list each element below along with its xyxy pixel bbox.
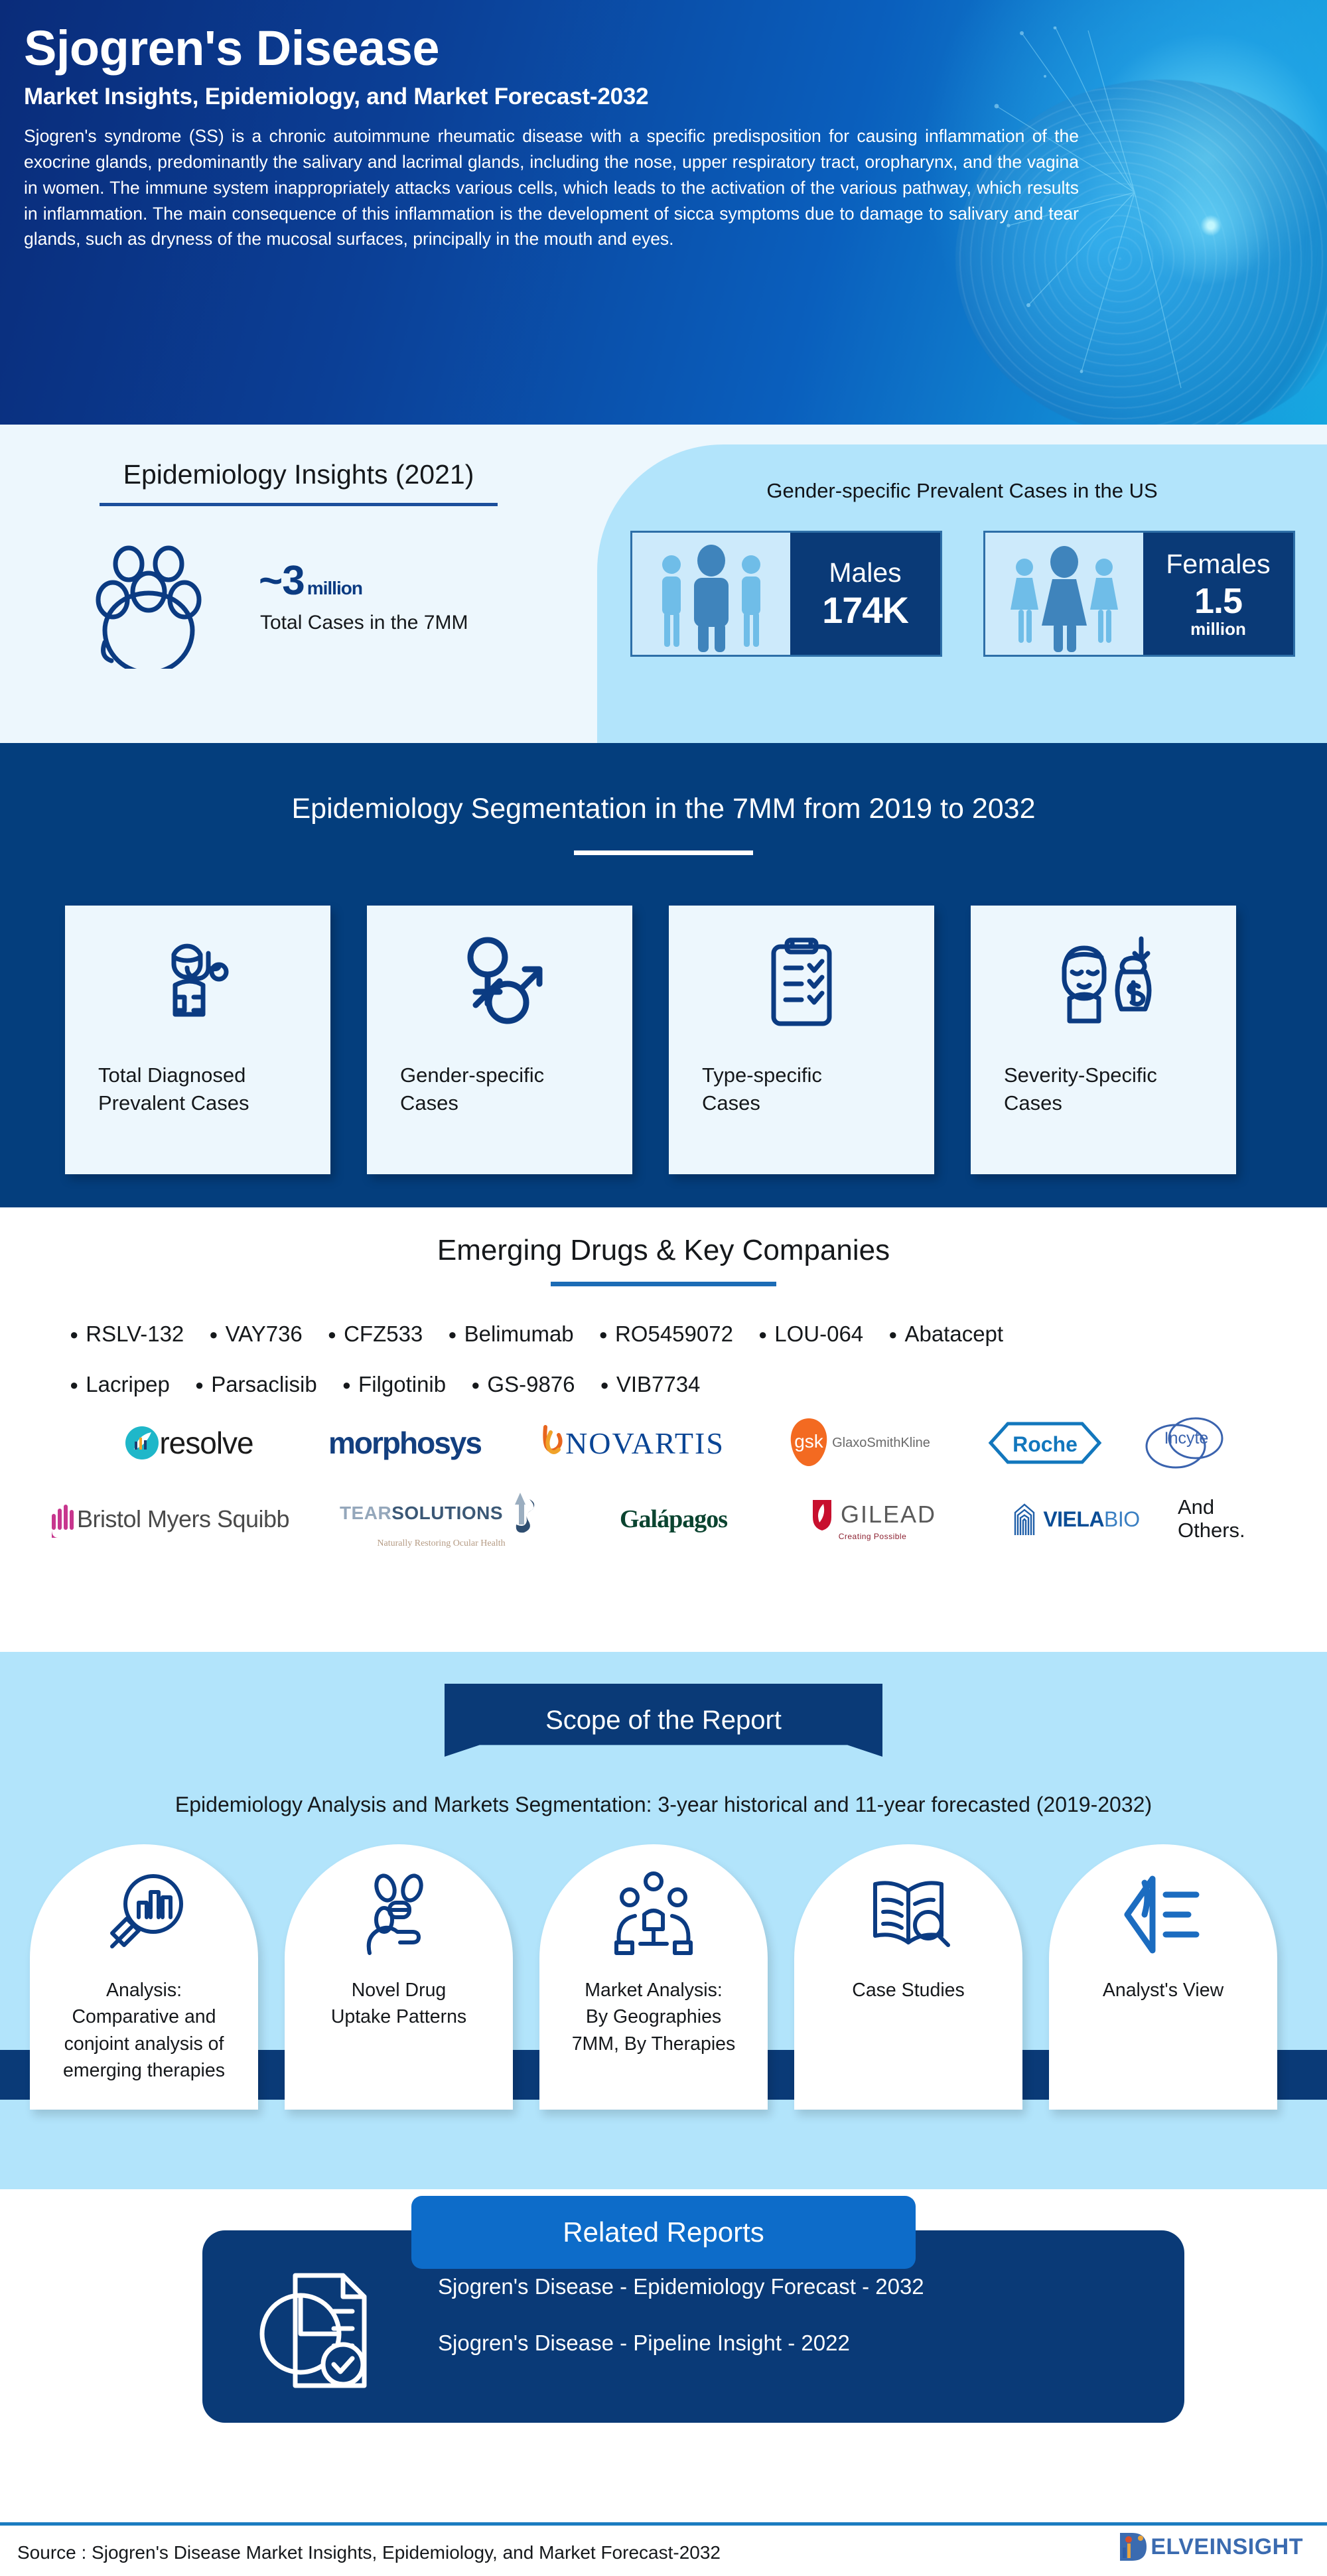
scope-card-label: Analyst's View — [1060, 1977, 1266, 2003]
female-value: 1.5 — [1194, 583, 1242, 619]
scope-card-label: Analysis: Comparative and conjoint analy… — [41, 1977, 247, 2084]
logo-bristol-myers-squibb: Bristol Myers Squibb — [30, 1499, 309, 1539]
related-report-item[interactable]: Sjogren's Disease - Epidemiology Forecas… — [438, 2275, 924, 2297]
segmentation-card-type-specific: Type-specific Cases — [669, 906, 934, 1174]
people-group-icon — [85, 543, 238, 669]
male-figures-icon — [632, 533, 790, 655]
logo-morphosys-text: morphosys — [328, 1425, 481, 1461]
and-others-label: And Others. — [1178, 1496, 1297, 1542]
megaphone-icon — [1117, 1844, 1210, 1965]
total-cases-label: Total Cases in the 7MM — [260, 612, 468, 634]
hero-description: Sjogren's syndrome (SS) is a chronic aut… — [24, 123, 1079, 251]
page-subtitle: Market Insights, Epidemiology, and Marke… — [24, 84, 1088, 110]
related-reports-list: Sjogren's Disease - Epidemiology Forecas… — [438, 2275, 924, 2354]
gender-card-females: Females 1.5 million — [983, 531, 1295, 657]
drug-item: Lacripep — [70, 1372, 170, 1396]
gender-cards: Males 174K — [630, 531, 1295, 657]
magnifier-barchart-icon — [98, 1844, 190, 1965]
doctor-stethoscope-icon — [145, 906, 251, 1061]
drug-item: CFZ533 — [328, 1322, 423, 1346]
patient-cost-icon — [1047, 906, 1160, 1061]
segmentation-card-label: Type-specific Cases — [702, 1061, 901, 1117]
drug-item: RSLV-132 — [70, 1322, 184, 1346]
gender-symbols-icon — [447, 906, 553, 1061]
gilead-mark-icon — [809, 1497, 835, 1532]
scope-card-label: Novel Drug Uptake Patterns — [296, 1977, 502, 2031]
logo-tear-tagline: Naturally Restoring Ocular Health — [377, 1538, 505, 1549]
logo-galapagos: Galápagos — [574, 1505, 773, 1534]
logo-bio-text: BIO — [1104, 1507, 1140, 1532]
resolve-mark-icon — [125, 1426, 159, 1460]
logo-roche: Roche — [969, 1418, 1121, 1467]
svg-text:Roche: Roche — [1013, 1432, 1078, 1456]
male-value-block: Males 174K — [790, 533, 940, 655]
clipboard-checklist-icon — [748, 906, 855, 1061]
scope-card-case-studies: Case Studies — [794, 1844, 1022, 2110]
emerging-drugs-section: Emerging Drugs & Key Companies RSLV-132V… — [0, 1207, 1327, 1652]
male-label: Males — [829, 559, 901, 586]
drug-list-row-1: RSLV-132VAY736CFZ533BelimumabRO5459072LO… — [70, 1322, 1028, 1347]
related-reports-badge[interactable]: Related Reports — [411, 2196, 916, 2269]
related-reports-section: Related Reports Sjogren's Disease - Epid… — [0, 2189, 1327, 2508]
logo-morphosys: morphosys — [299, 1425, 511, 1461]
segmentation-title: Epidemiology Segmentation in the 7MM fro… — [0, 793, 1327, 825]
scope-card-label: Market Analysis: By Geographies 7MM, By … — [551, 1977, 756, 2057]
tearsolutions-mark-icon — [507, 1490, 543, 1536]
logo-resolve-text: resolve — [159, 1425, 253, 1461]
gsk-mark-icon: gsk — [788, 1417, 829, 1469]
logo-viela-text: VIELA — [1043, 1507, 1104, 1532]
hero-banner: Sjogren's Disease Market Insights, Epide… — [0, 0, 1327, 425]
scope-card-market-analysis: Market Analysis: By Geographies 7MM, By … — [539, 1844, 768, 2110]
scope-card-analysis: Analysis: Comparative and conjoint analy… — [30, 1844, 258, 2110]
logo-novartis: NOVARTIS — [511, 1424, 750, 1461]
epidemiology-left-panel: Epidemiology Insights (2021) ~3million T… — [0, 425, 597, 743]
segmentation-card-label: Severity-Specific Cases — [1004, 1061, 1203, 1117]
segmentation-card-severity-specific: Severity-Specific Cases — [971, 906, 1236, 1174]
logo-gilead-tagline: Creating Possible — [839, 1532, 907, 1541]
drug-item: GS-9876 — [471, 1372, 575, 1396]
scope-subtitle: Epidemiology Analysis and Markets Segmen… — [0, 1793, 1327, 1817]
company-logos-row-2: Bristol Myers Squibb TEARSOLUTIONS Natur… — [0, 1483, 1327, 1556]
drugs-title: Emerging Drugs & Key Companies — [0, 1234, 1327, 1267]
people-meeting-icon — [607, 1844, 700, 1965]
scope-card-label: Case Studies — [805, 1977, 1011, 2003]
page-title: Sjogren's Disease — [24, 23, 1088, 74]
footer-source-text: Source : Sjogren's Disease Market Insigh… — [17, 2542, 721, 2563]
female-unit: million — [1190, 620, 1246, 638]
scope-cards: Analysis: Comparative and conjoint analy… — [30, 1844, 1277, 2110]
drug-item: LOU-064 — [758, 1322, 863, 1346]
segmentation-underline — [574, 850, 753, 855]
svg-text:gsk: gsk — [794, 1431, 824, 1452]
scope-of-report-section: Scope of the Report Epidemiology Analysi… — [0, 1652, 1327, 2189]
female-figures-icon — [985, 533, 1143, 655]
segmentation-card-gender-specific: Gender-specific Cases — [367, 906, 632, 1174]
hand-pills-icon — [352, 1844, 445, 1965]
logo-incyte: Incyte — [1121, 1416, 1247, 1470]
title-underline — [100, 503, 498, 506]
drug-item: RO5459072 — [599, 1322, 733, 1346]
logo-tearsolutions: TEARSOLUTIONS Naturally Restoring Ocular… — [309, 1490, 574, 1549]
male-value: 174K — [822, 592, 908, 629]
segmentation-cards: Total Diagnosed Prevalent Cases Gender-s… — [65, 906, 1236, 1174]
drug-item: Filgotinib — [342, 1372, 446, 1396]
footer-divider — [0, 2522, 1327, 2526]
delveinsight-mark-icon — [1115, 2529, 1151, 2565]
logo-viela-bio: VIELABIO — [972, 1501, 1178, 1538]
logo-bms-text: Bristol Myers Squibb — [77, 1505, 289, 1533]
logo-resolve: resolve — [80, 1425, 299, 1461]
logo-gsk-text: GlaxoSmithKline — [832, 1436, 930, 1451]
bms-mark-icon — [49, 1499, 77, 1539]
logo-gilead: GILEAD Creating Possible — [773, 1497, 972, 1541]
footer: Source : Sjogren's Disease Market Insigh… — [0, 2508, 1327, 2576]
report-piechart-icon — [255, 2268, 388, 2394]
gender-panel-title: Gender-specific Prevalent Cases in the U… — [597, 479, 1327, 503]
delveinsight-logo-text: ELVEINSIGHT — [1151, 2534, 1303, 2560]
novartis-flame-icon — [536, 1424, 565, 1461]
logo-tear-text: TEAR — [340, 1503, 391, 1524]
female-label: Females — [1166, 551, 1270, 578]
logo-novartis-text: NOVARTIS — [565, 1426, 725, 1461]
logo-solutions-text: SOLUTIONS — [391, 1503, 503, 1524]
logo-gsk: gsk GlaxoSmithKline — [750, 1417, 969, 1469]
epidemiology-segmentation-section: Epidemiology Segmentation in the 7MM fro… — [0, 743, 1327, 1207]
drug-list-row-2: LacripepParsaclisibFilgotinibGS-9876VIB7… — [70, 1372, 725, 1397]
roche-hex-icon: Roche — [985, 1418, 1105, 1467]
svg-text:Incyte: Incyte — [1164, 1429, 1209, 1448]
book-magnifier-icon — [862, 1844, 955, 1965]
scope-card-novel-drug-uptake: Novel Drug Uptake Patterns — [285, 1844, 513, 2110]
female-value-block: Females 1.5 million — [1143, 533, 1293, 655]
epidemiology-insights-section: Epidemiology Insights (2021) ~3million T… — [0, 425, 1327, 743]
drug-item: VAY736 — [209, 1322, 303, 1346]
related-report-item[interactable]: Sjogren's Disease - Pipeline Insight - 2… — [438, 2332, 924, 2354]
drugs-underline — [551, 1282, 776, 1286]
segmentation-card-total-diagnosed: Total Diagnosed Prevalent Cases — [65, 906, 330, 1174]
logo-galapagos-text: Galápagos — [620, 1505, 727, 1534]
total-cases-value: ~3million — [259, 557, 362, 604]
epi-insights-title: Epidemiology Insights (2021) — [93, 459, 504, 490]
drug-item: Parsaclisib — [195, 1372, 317, 1396]
segmentation-card-label: Total Diagnosed Prevalent Cases — [98, 1061, 297, 1117]
drug-item: Abatacept — [888, 1322, 1003, 1346]
logo-gilead-text: GILEAD — [841, 1501, 936, 1528]
viela-mark-icon — [1010, 1501, 1039, 1538]
light-burst-graphic — [1128, 143, 1294, 308]
drug-item: VIB7734 — [600, 1372, 701, 1396]
incyte-mark-icon: Incyte — [1135, 1416, 1234, 1470]
scope-ribbon-title: Scope of the Report — [445, 1684, 882, 1757]
company-logos-row-1: resolve morphosys NOVARTIS gsk GlaxoSmit… — [0, 1406, 1327, 1479]
drug-item: Belimumab — [448, 1322, 573, 1346]
segmentation-card-label: Gender-specific Cases — [400, 1061, 599, 1117]
scope-card-analysts-view: Analyst's View — [1049, 1844, 1277, 2110]
gender-card-males: Males 174K — [630, 531, 942, 657]
gender-panel: Gender-specific Prevalent Cases in the U… — [597, 444, 1327, 743]
delveinsight-logo: ELVEINSIGHT — [1115, 2529, 1303, 2565]
